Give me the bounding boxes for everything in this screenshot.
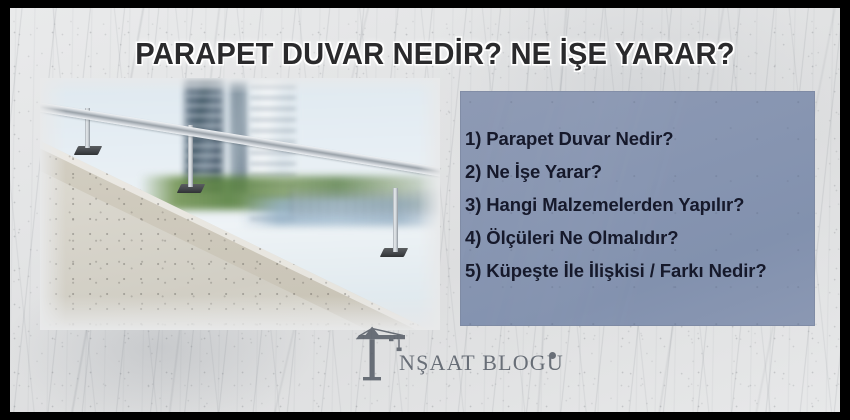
banner-image: PARAPET DUVAR NEDİR? NE İŞE YARAR? 1) Pa… — [0, 0, 850, 420]
page-title: PARAPET DUVAR NEDİR? NE İŞE YARAR? — [36, 36, 835, 72]
question-list: 1) Parapet Duvar Nedir? 2) Ne İşe Yarar?… — [465, 122, 811, 287]
logo-text: NŞAAT BLOGU — [399, 350, 564, 376]
logo-accent-dot — [549, 352, 556, 359]
distant-cityscape — [290, 190, 440, 216]
list-item: 3) Hangi Malzemelerden Yapılır? — [465, 188, 811, 221]
banner-background: PARAPET DUVAR NEDİR? NE İŞE YARAR? 1) Pa… — [10, 8, 840, 412]
list-item: 4) Ölçüleri Ne Olmalıdır? — [465, 221, 811, 254]
parapet-wall-photo — [40, 78, 440, 330]
railing-post — [393, 188, 398, 252]
question-panel: 1) Parapet Duvar Nedir? 2) Ne İşe Yarar?… — [460, 91, 815, 326]
site-logo: NŞAAT BLOGU — [355, 326, 565, 388]
list-item: 5) Küpeşte İle İlişkisi / Farkı Nedir? — [465, 254, 811, 287]
list-item: 2) Ne İşe Yarar? — [465, 155, 811, 188]
list-item: 1) Parapet Duvar Nedir? — [465, 122, 811, 155]
